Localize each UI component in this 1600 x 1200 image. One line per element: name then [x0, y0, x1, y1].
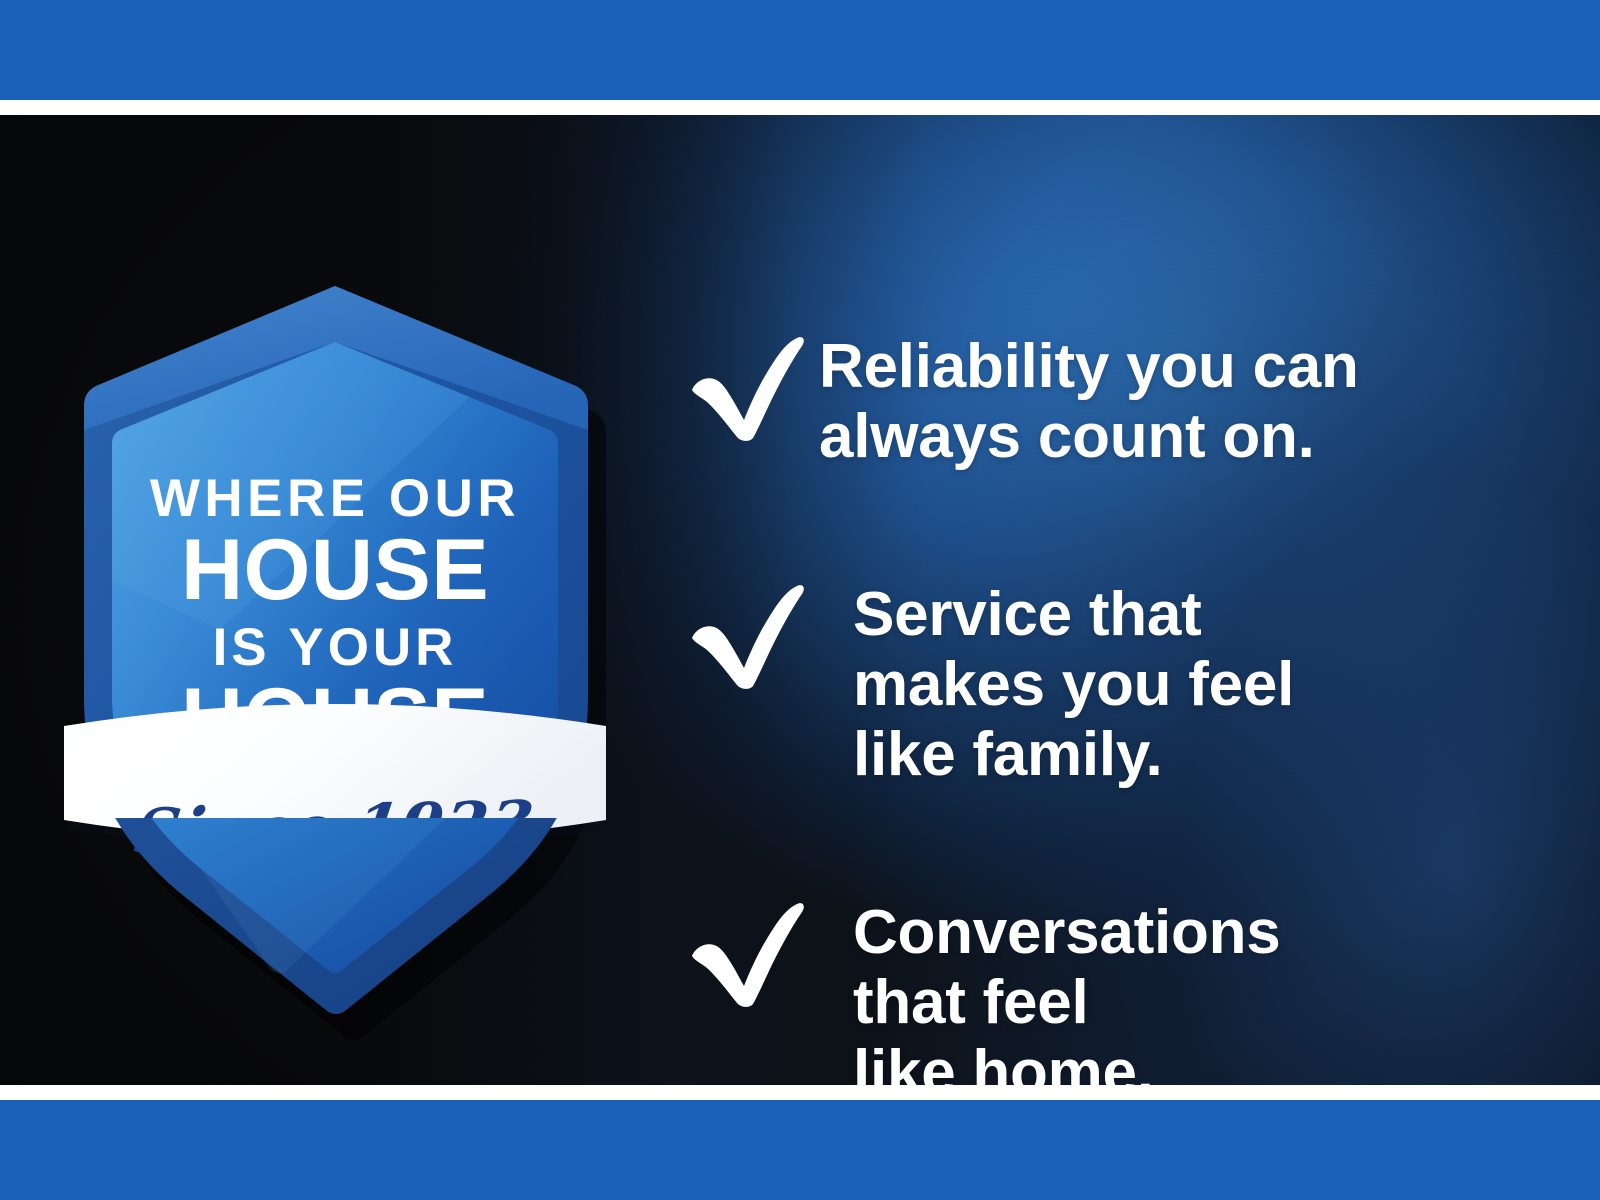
content-stage: WHERE OUR HOUSE IS YOUR HOUSE Since 1923 [0, 115, 1600, 1085]
bottom-brand-bar [0, 1100, 1600, 1200]
since-banner: Since 1923 [70, 791, 600, 864]
checkmark-icon [685, 898, 807, 1008]
benefit-item: Reliability you can always count on. [685, 332, 1359, 472]
benefit-text: Conversations that feel like home. [853, 898, 1280, 1085]
benefits-list: Reliability you can always count on. Ser… [660, 230, 1490, 1085]
benefit-line: like family. [853, 720, 1294, 790]
benefit-text: Service that makes you feel like family. [853, 580, 1294, 790]
top-white-divider [0, 100, 1600, 115]
benefit-line: Service that [853, 580, 1294, 650]
benefit-line: Conversations [853, 898, 1280, 968]
benefit-line: always count on. [819, 402, 1359, 472]
benefit-line: makes you feel [853, 650, 1294, 720]
promo-graphic: WHERE OUR HOUSE IS YOUR HOUSE Since 1923 [0, 0, 1600, 1200]
top-brand-bar [0, 0, 1600, 100]
benefit-line: like home. [853, 1038, 1280, 1085]
benefit-text: Reliability you can always count on. [819, 332, 1359, 472]
checkmark-icon [685, 332, 807, 442]
checkmark-icon [685, 580, 807, 690]
benefit-line: Reliability you can [819, 332, 1359, 402]
bottom-white-divider [0, 1085, 1600, 1100]
benefit-item: Conversations that feel like home. [685, 898, 1280, 1085]
benefit-item: Service that makes you feel like family. [685, 580, 1294, 790]
shield-badge: WHERE OUR HOUSE IS YOUR HOUSE Since 1923 [70, 280, 600, 960]
benefit-line: that feel [853, 968, 1280, 1038]
since-year-text: Since 1923 [131, 787, 539, 868]
